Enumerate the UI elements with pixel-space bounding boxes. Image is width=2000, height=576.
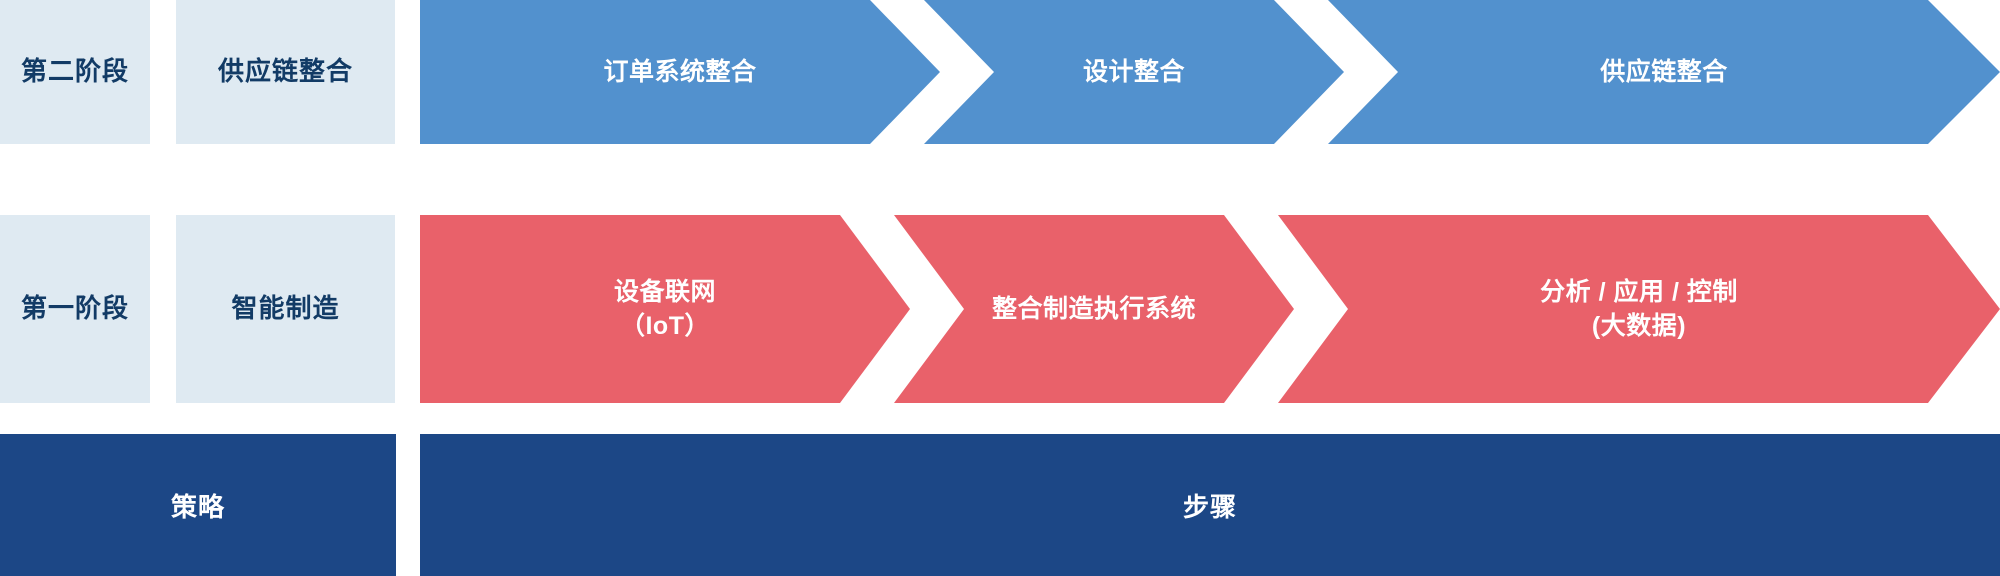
arrow-step-blue-2[interactable]: 设计整合 <box>924 0 1344 144</box>
phase-label-text: 第一阶段 <box>21 292 129 326</box>
theme-label-text: 供应链整合 <box>218 55 353 89</box>
arrow-row-phase-two: 订单系统整合 设计整合 供应链整合 <box>420 0 2000 144</box>
arrow-step-label: 订单系统整合 <box>603 55 756 90</box>
footer-steps-bar: 步骤 <box>420 434 2000 576</box>
theme-label-row-1: 供应链整合 <box>176 0 395 144</box>
arrow-step-red-1[interactable]: 设备联网 （IoT） <box>420 215 910 403</box>
phase-label-text: 第二阶段 <box>21 55 129 89</box>
footer-strategy-bar: 策略 <box>0 434 396 576</box>
arrow-step-blue-1[interactable]: 订单系统整合 <box>420 0 940 144</box>
phase-label-row-1: 第二阶段 <box>0 0 150 144</box>
theme-label-row-2: 智能制造 <box>176 215 395 403</box>
footer-strategy-label: 策略 <box>171 487 225 524</box>
arrow-step-label: 供应链整合 <box>1600 55 1728 90</box>
arrow-step-red-3[interactable]: 分析 / 应用 / 控制 (大数据) <box>1278 215 2000 403</box>
arrow-step-label: 设计整合 <box>1083 55 1185 90</box>
arrow-step-label: 整合制造执行系统 <box>992 292 1196 327</box>
arrow-step-label: 分析 / 应用 / 控制 (大数据) <box>1540 275 1738 344</box>
footer-steps-label: 步骤 <box>1183 487 1237 524</box>
phase-label-row-2: 第一阶段 <box>0 215 150 403</box>
arrow-step-label: 设备联网 （IoT） <box>614 275 716 344</box>
theme-label-text: 智能制造 <box>231 292 339 326</box>
roadmap-diagram: 第二阶段 供应链整合 订单系统整合 设计整合 供应链整合 第一阶段 智能制造 设… <box>0 0 2000 576</box>
arrow-step-red-2[interactable]: 整合制造执行系统 <box>894 215 1294 403</box>
arrow-step-blue-3[interactable]: 供应链整合 <box>1328 0 2000 144</box>
arrow-row-phase-one: 设备联网 （IoT） 整合制造执行系统 分析 / 应用 / 控制 (大数据) <box>420 215 2000 403</box>
